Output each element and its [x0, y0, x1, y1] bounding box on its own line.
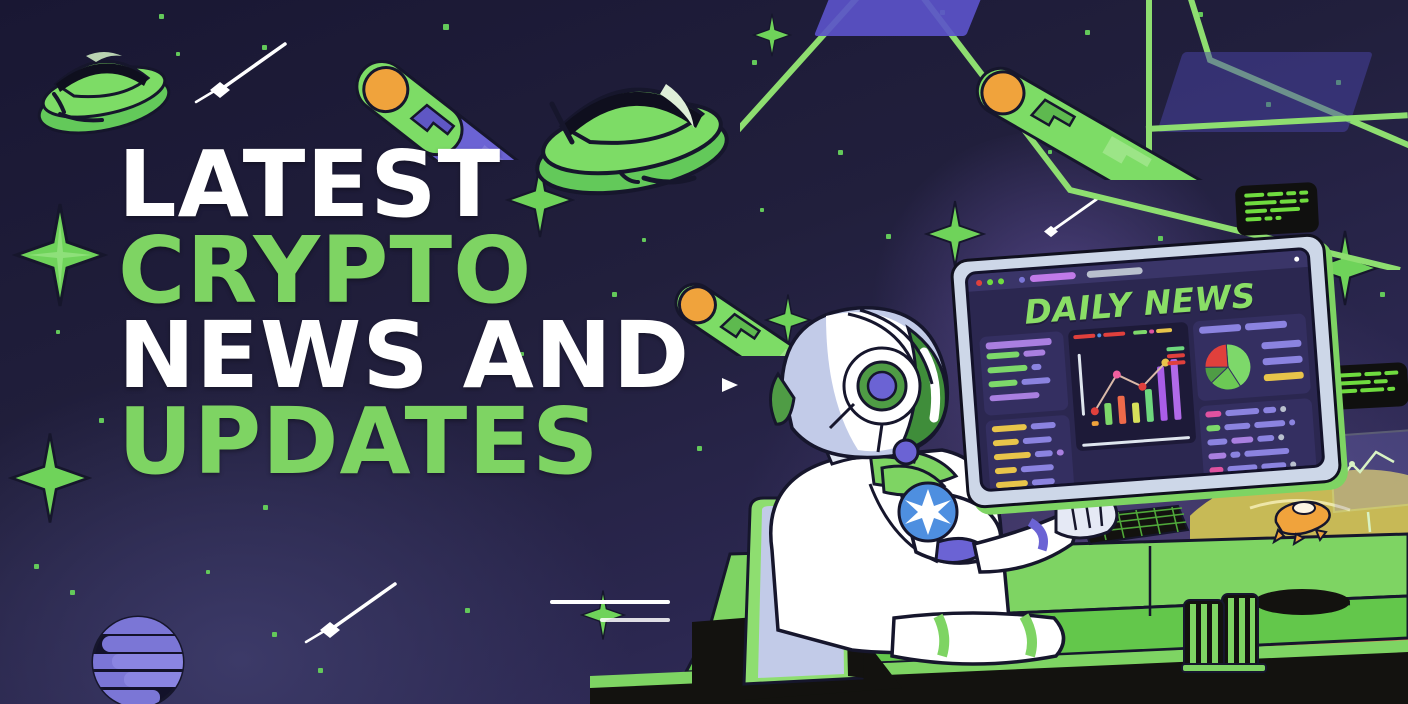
terminal-token: [1339, 389, 1357, 394]
dashboard-left-column: [979, 331, 1072, 458]
minimize-icon[interactable]: [987, 278, 993, 284]
pie-panel[interactable]: [1192, 313, 1311, 401]
address-bar[interactable]: [1087, 267, 1143, 278]
terminal-token: [1245, 200, 1277, 206]
pie-chart: [1200, 339, 1258, 395]
text-row: [988, 376, 1061, 391]
ticker-bar: [1097, 333, 1101, 337]
page-title: LATEST CRYPTO NEWS AND UPDATES: [118, 142, 690, 484]
chart-panel[interactable]: [1068, 322, 1197, 451]
news-panel-top[interactable]: [979, 331, 1069, 416]
star-dot: [56, 330, 60, 334]
terminal-token: [1245, 217, 1261, 222]
terminal-token: [1245, 209, 1267, 214]
terminal-top[interactable]: [1235, 182, 1320, 236]
text-row: [992, 421, 1065, 436]
terminal-token: [1360, 387, 1384, 392]
pie-slice: [1203, 344, 1228, 369]
sparkle-icon: [12, 200, 108, 310]
headline-line-2: CRYPTO: [118, 228, 690, 314]
ufo-small-icon: [26, 22, 186, 142]
star-dot: [697, 446, 702, 451]
terminal-token: [1364, 371, 1382, 376]
star-dot: [465, 608, 470, 613]
terminal-token: [1384, 370, 1398, 375]
terminal-token: [1299, 198, 1309, 202]
terminal-line: [1339, 386, 1399, 397]
star-dot: [70, 590, 75, 595]
legend-bar: [1166, 346, 1184, 351]
news-panel-bottom[interactable]: [985, 415, 1076, 493]
headline-line-1: LATEST: [118, 142, 690, 228]
banner-scene: LATEST CRYPTO NEWS AND UPDATES: [0, 0, 1408, 704]
headline-line-3: NEWS AND: [118, 313, 690, 399]
planet-striped-icon: [90, 614, 200, 704]
star-dot: [1380, 292, 1385, 297]
tab-favicon-icon: [1019, 276, 1025, 282]
terminal-token: [1338, 372, 1361, 377]
star-dot: [272, 632, 277, 637]
terminal-bottom[interactable]: [1329, 362, 1408, 410]
legend-bar: [1167, 353, 1185, 358]
legend-bar: [1261, 340, 1301, 350]
terminal-token: [1244, 193, 1264, 198]
dashboard: [972, 313, 1320, 466]
ticker-bar: [1103, 331, 1125, 337]
sparkle-icon: [8, 430, 92, 526]
close-icon[interactable]: [976, 279, 982, 285]
ticker-bar: [1133, 330, 1147, 335]
ticker-bar: [1156, 328, 1172, 333]
chart-bar: [1092, 421, 1099, 426]
chart-bar: [1117, 396, 1126, 425]
chart-bar: [1170, 359, 1181, 420]
terminal-token: [1267, 192, 1283, 197]
text-row: [994, 449, 1067, 464]
menu-icon[interactable]: [1294, 256, 1299, 261]
monitor[interactable]: DAILY NEWS: [949, 233, 1342, 510]
terminal-token: [1275, 216, 1281, 220]
terminal-token: [1286, 191, 1296, 196]
text-row: [993, 435, 1066, 450]
chart-bar: [1145, 389, 1154, 422]
headline-line-4: UPDATES: [118, 399, 690, 485]
shooting-star-icon: [300, 580, 400, 650]
chart-bar: [1104, 403, 1113, 425]
text-row: [987, 362, 1060, 377]
star-dot: [318, 668, 323, 673]
text-row: [995, 463, 1068, 478]
ticker-bar: [1073, 334, 1095, 340]
panel-header-bar: [985, 338, 1052, 350]
maximize-icon[interactable]: [998, 278, 1004, 284]
terminal-token: [1270, 207, 1300, 213]
cockpit-window-pane: [814, 0, 982, 36]
chart-data-point: [1113, 370, 1122, 379]
text-row: [989, 390, 1062, 405]
browser-tab[interactable]: [1030, 272, 1076, 282]
legend-bar: [1262, 356, 1302, 366]
fuel-canisters-icon: [1178, 586, 1270, 676]
star-dot: [159, 14, 164, 19]
chart-axis-line: [1082, 436, 1190, 447]
star-dot: [34, 564, 39, 569]
chart-data-point: [1091, 407, 1100, 416]
terminal-token: [1279, 199, 1296, 204]
star-dot: [263, 505, 268, 510]
shooting-star-icon: [190, 40, 290, 110]
terminal-token: [1299, 190, 1308, 194]
terminal-token: [1339, 380, 1371, 386]
terminal-token: [1264, 216, 1272, 220]
star-dot: [99, 418, 104, 423]
triangle-glint-icon: [720, 376, 740, 394]
chart-bar: [1132, 402, 1140, 423]
text-row: [986, 348, 1059, 363]
terminal-token: [1374, 379, 1388, 384]
comet-icon: [960, 0, 1360, 180]
terminal-token: [1387, 387, 1395, 391]
dashboard-right-column: [1192, 313, 1314, 442]
chart-line: [1092, 363, 1169, 412]
monitor-screen: DAILY NEWS: [964, 247, 1325, 493]
terminal-lines: [1244, 190, 1310, 225]
text-row: [1199, 320, 1301, 338]
ticker-bar: [1149, 329, 1154, 333]
terminal-lines: [1338, 370, 1399, 397]
chart-bar: [1157, 366, 1168, 421]
star-dot: [206, 570, 210, 574]
legend-bar: [1264, 371, 1304, 381]
